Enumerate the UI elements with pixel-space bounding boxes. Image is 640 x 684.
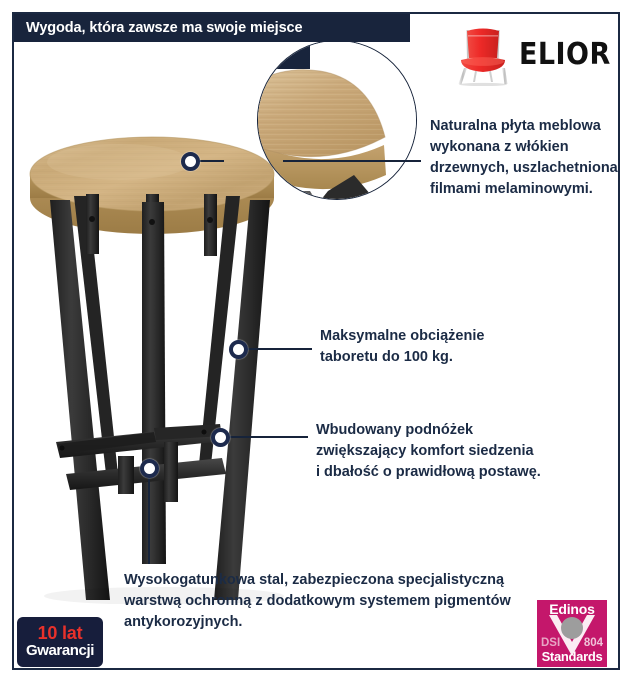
certificate-name: Edinos [537, 601, 607, 617]
seat-edge-zoom-detail-icon [258, 41, 417, 200]
certificate-code-prefix: DSI [541, 637, 560, 649]
certificate-badge: Edinos DSI 804 Standards [537, 600, 607, 667]
red-chair-icon [455, 24, 511, 86]
warranty-badge: 10 lat Gwarancji [17, 617, 103, 667]
warranty-label: Gwarancji [26, 643, 94, 660]
callout-load: Maksymalne obciążenie taboretu do 100 kg… [320, 326, 535, 368]
zoom-detail-bubble [257, 40, 417, 200]
leader-line-material [198, 160, 224, 162]
marker-material[interactable] [181, 152, 200, 171]
header-banner: Wygoda, która zawsze ma swoje miejsce [14, 14, 410, 42]
brand-logo: ELIOR [455, 22, 613, 88]
certificate-code-number: 804 [584, 637, 603, 649]
callout-material: Naturalna płyta meblowa wykonana z włóki… [430, 116, 620, 200]
marker-footrest[interactable] [211, 428, 230, 447]
infographic-canvas: Wygoda, która zawsze ma swoje miejsce [0, 0, 640, 684]
marker-steel[interactable] [140, 459, 159, 478]
page-title: Wygoda, która zawsze ma swoje miejsce [26, 20, 302, 36]
brand-name: ELIOR [519, 40, 611, 70]
leader-line-material-2 [283, 160, 421, 162]
leader-line-steel [148, 476, 150, 564]
callout-footrest: Wbudowany podnóżek zwiększający komfort … [316, 420, 541, 483]
warranty-years: 10 lat [38, 624, 83, 642]
leader-line-footrest [228, 436, 308, 438]
marker-load[interactable] [229, 340, 248, 359]
certificate-standards-label: Standards [537, 649, 607, 664]
leader-line-load [246, 348, 312, 350]
callout-steel: Wysokogatunkowa stal, zabezpieczona spec… [124, 570, 544, 633]
